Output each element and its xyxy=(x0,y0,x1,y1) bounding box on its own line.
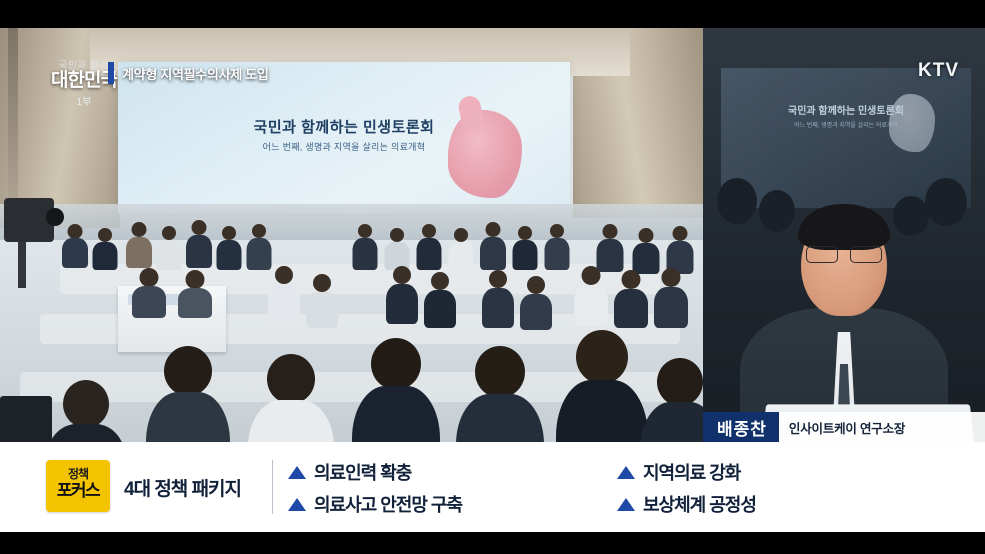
lower-third-divider xyxy=(272,460,273,514)
letterbox-bottom xyxy=(0,532,985,554)
audience-person xyxy=(544,224,570,270)
studio-screen-subtitle: 어느 번째, 생명과 지역을 살리는 의료개혁 xyxy=(721,120,971,129)
policy-item-label: 의료사고 안전망 구축 xyxy=(314,491,462,517)
triangle-bullet-icon xyxy=(617,498,635,511)
guest-glasses xyxy=(806,246,882,262)
guest-role: 인사이트케이 연구소장 xyxy=(779,412,985,442)
policy-item-label: 지역의료 강화 xyxy=(643,459,740,485)
audience-person xyxy=(596,224,624,272)
channel-logo: KTV xyxy=(918,60,959,82)
camera-lens-icon xyxy=(46,208,64,226)
policy-item: 의료인력 확충 xyxy=(288,458,599,486)
audience-person xyxy=(666,226,694,274)
lower-third-graphic: 정책 포커스 4대 정책 패키지 의료인력 확충 지역의료 강화 의료사고 안전… xyxy=(0,442,985,532)
policy-focus-logo-line1: 정책 xyxy=(46,465,110,482)
audience-person xyxy=(186,220,212,268)
headline-banner: 계약형 지역필수의사제 도입 xyxy=(108,62,269,84)
broadcast-screenshot: 국민과 함께하는 민생토론회 어느 번째, 생명과 지역을 살리는 의료개혁 xyxy=(0,0,985,554)
policy-item: 의료사고 안전망 구축 xyxy=(288,490,599,518)
guest-name: 배종찬 xyxy=(703,412,779,442)
studio-screen-title: 국민과 함께하는 민생토론회 xyxy=(721,102,971,117)
audience-person xyxy=(512,226,538,270)
audience-person xyxy=(632,228,660,274)
audience-person xyxy=(654,268,688,328)
audience-person xyxy=(448,228,474,272)
audience-person xyxy=(216,226,242,270)
lower-third-title: 4대 정책 패키지 xyxy=(124,474,241,501)
triangle-bullet-icon xyxy=(617,466,635,479)
policy-focus-logo: 정책 포커스 xyxy=(46,460,110,512)
headline-text: 계약형 지역필수의사제 도입 xyxy=(122,64,269,83)
guest-hair xyxy=(798,204,890,250)
audience-person xyxy=(480,222,506,270)
audience-person xyxy=(416,224,442,270)
program-logo-part-text: 1부 xyxy=(77,93,92,108)
policy-item-label: 의료인력 확충 xyxy=(314,459,411,485)
guest-nameplate: 배종찬 인사이트케이 연구소장 xyxy=(703,412,985,442)
headline-accent-bar xyxy=(108,62,114,84)
triangle-bullet-icon xyxy=(288,498,306,511)
policy-focus-logo-line2: 포커스 xyxy=(46,482,110,500)
audience-person xyxy=(92,228,118,270)
triangle-bullet-icon xyxy=(288,466,306,479)
audience-person xyxy=(246,224,272,270)
policy-items-grid: 의료인력 확충 지역의료 강화 의료사고 안전망 구축 보상체계 공정성 xyxy=(288,458,928,518)
policy-item: 보상체계 공정성 xyxy=(617,490,928,518)
audience-person xyxy=(352,224,378,270)
policy-item: 지역의료 강화 xyxy=(617,458,928,486)
letterbox-top xyxy=(0,0,985,28)
audience-person xyxy=(126,222,152,268)
audience-person xyxy=(156,226,182,270)
policy-item-label: 보상체계 공정성 xyxy=(643,491,756,517)
broadcast-camera xyxy=(4,198,54,242)
audience-person xyxy=(62,224,88,268)
audience-person xyxy=(384,228,410,270)
